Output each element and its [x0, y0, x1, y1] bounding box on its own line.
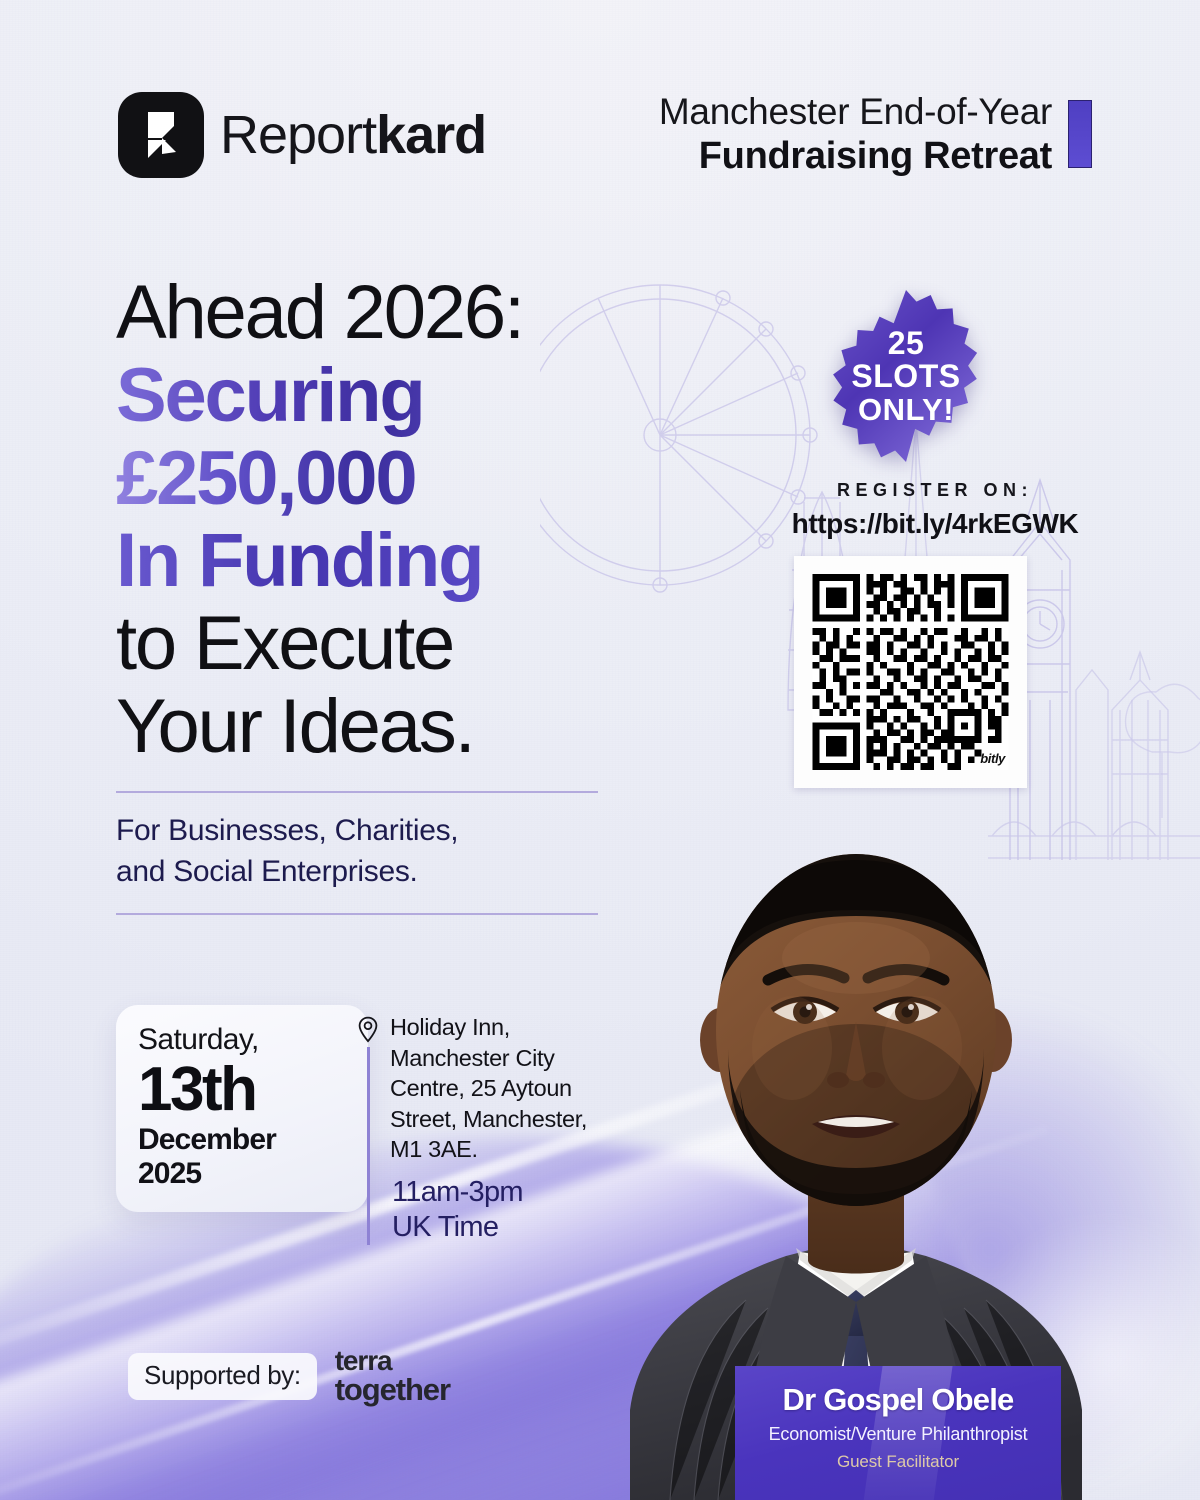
headline-line-5: to Execute [116, 603, 636, 686]
event-venue-block: Holiday Inn, Manchester City Centre, 25 … [356, 1012, 646, 1245]
event-time-line-2: UK Time [392, 1210, 587, 1245]
headline-block: Ahead 2026: Securing £250,000 In Funding… [116, 272, 636, 915]
venue-address: Holiday Inn, Manchester City Centre, 25 … [390, 1012, 587, 1245]
headline-line-2: Securing [116, 355, 636, 438]
event-title-block: Manchester End-of-Year Fundraising Retre… [659, 90, 1092, 178]
event-date-card: Saturday, 13th December 2025 [116, 1005, 368, 1212]
event-day-of-week: Saturday, [138, 1023, 346, 1056]
event-time: 11am-3pm UK Time [392, 1175, 587, 1246]
register-label: REGISTER ON: [760, 480, 1110, 501]
qr-code-icon[interactable] [812, 574, 1009, 770]
headline-line-4: In Funding [116, 520, 636, 603]
speaker-role: Economist/Venture Philanthropist [735, 1424, 1061, 1446]
starburst-badge-icon [818, 288, 994, 464]
brand-name-light: Report [220, 105, 376, 165]
venue-address-line-1: Holiday Inn, [390, 1012, 587, 1043]
register-url[interactable]: https://bit.ly/4rkEGWK [740, 508, 1130, 540]
map-pin-icon [357, 1016, 379, 1043]
speaker-tag: Guest Facilitator [735, 1452, 1061, 1472]
venue-pin-column [356, 1012, 380, 1245]
venue-address-line-5: M1 3AE. [390, 1134, 587, 1165]
event-title-line-2: Fundraising Retreat [659, 134, 1052, 179]
headline-line-3: £250,000 [116, 438, 636, 521]
subheadline-line-1: For Businesses, Charities, [116, 811, 636, 852]
headline-line-1: Ahead 2026: [116, 272, 636, 355]
event-time-line-1: 11am-3pm [392, 1175, 587, 1210]
event-day: 13th [138, 1058, 346, 1121]
qr-code-card[interactable]: bitly [794, 556, 1027, 788]
partner-logo-line-2: together [335, 1375, 450, 1405]
event-month: December [138, 1123, 346, 1157]
headline-line-6: Your Ideas. [116, 686, 636, 769]
speaker-name: Dr Gospel Obele [735, 1382, 1061, 1418]
event-poster: Reportkard Manchester End-of-Year Fundra… [0, 0, 1200, 1500]
poster-header: Reportkard Manchester End-of-Year Fundra… [0, 86, 1200, 196]
event-year: 2025 [138, 1157, 346, 1191]
headline-divider-bottom [116, 913, 598, 915]
qr-bitly-watermark: bitly [980, 751, 1005, 766]
event-title-accent-bar [1068, 100, 1092, 168]
venue-address-line-3: Centre, 25 Aytoun [390, 1073, 587, 1104]
partner-logo-terra-together: terra together [335, 1348, 450, 1405]
slots-badge: 25 SLOTS ONLY! [818, 288, 994, 464]
speaker-name-banner: Dr Gospel Obele Economist/Venture Philan… [735, 1366, 1061, 1500]
brand-name-bold: kard [376, 105, 486, 165]
supported-by-label: Supported by: [128, 1353, 317, 1400]
reportkard-logo-icon [118, 92, 204, 178]
venue-address-line-2: Manchester City [390, 1043, 587, 1074]
supported-by-block: Supported by: terra together [128, 1348, 450, 1405]
subheadline: For Businesses, Charities, and Social En… [116, 811, 636, 893]
brand-lockup: Reportkard [118, 92, 486, 178]
subheadline-line-2: and Social Enterprises. [116, 852, 636, 893]
brand-name: Reportkard [220, 104, 486, 166]
venue-pin-connector [367, 1047, 370, 1245]
venue-address-line-4: Street, Manchester, [390, 1104, 587, 1135]
headline-divider-top [116, 791, 598, 793]
partner-logo-line-1: terra [335, 1348, 450, 1375]
event-title-line-1: Manchester End-of-Year [659, 90, 1052, 134]
